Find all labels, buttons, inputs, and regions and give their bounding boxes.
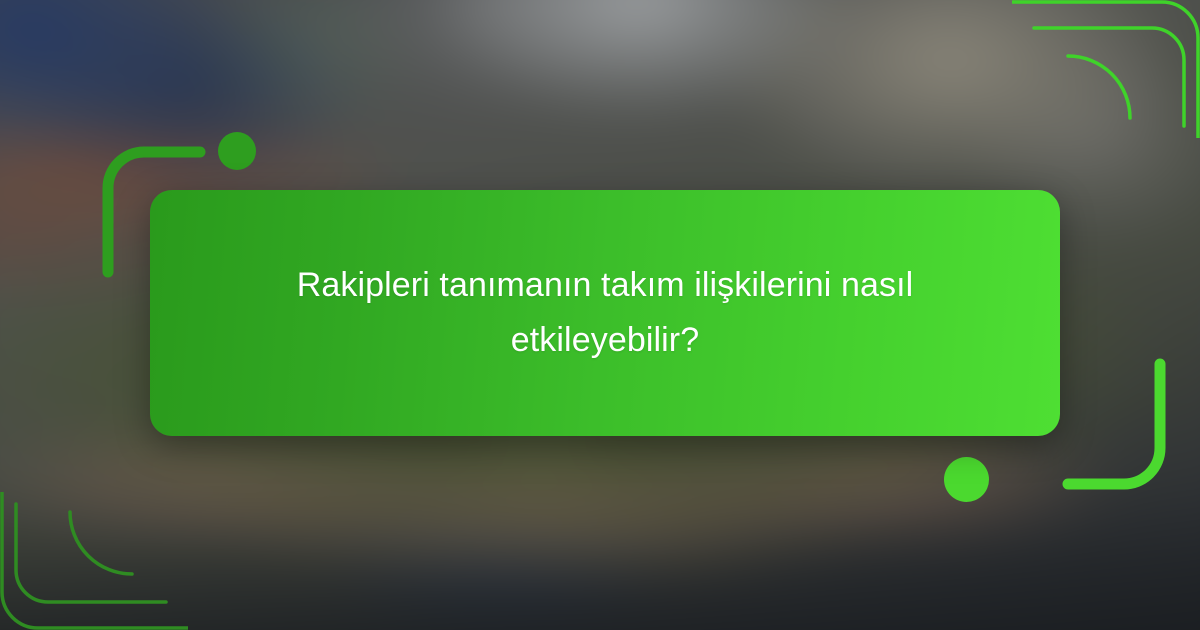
page-title: Rakipleri tanımanın takım ilişkilerini n… [225,258,985,368]
accent-dot-top-left-icon [218,132,256,170]
accent-dot-bottom-right-icon [944,457,989,502]
social-card-canvas: Rakipleri tanımanın takım ilişkilerini n… [0,0,1200,630]
headline-card: Rakipleri tanımanın takım ilişkilerini n… [150,190,1060,436]
